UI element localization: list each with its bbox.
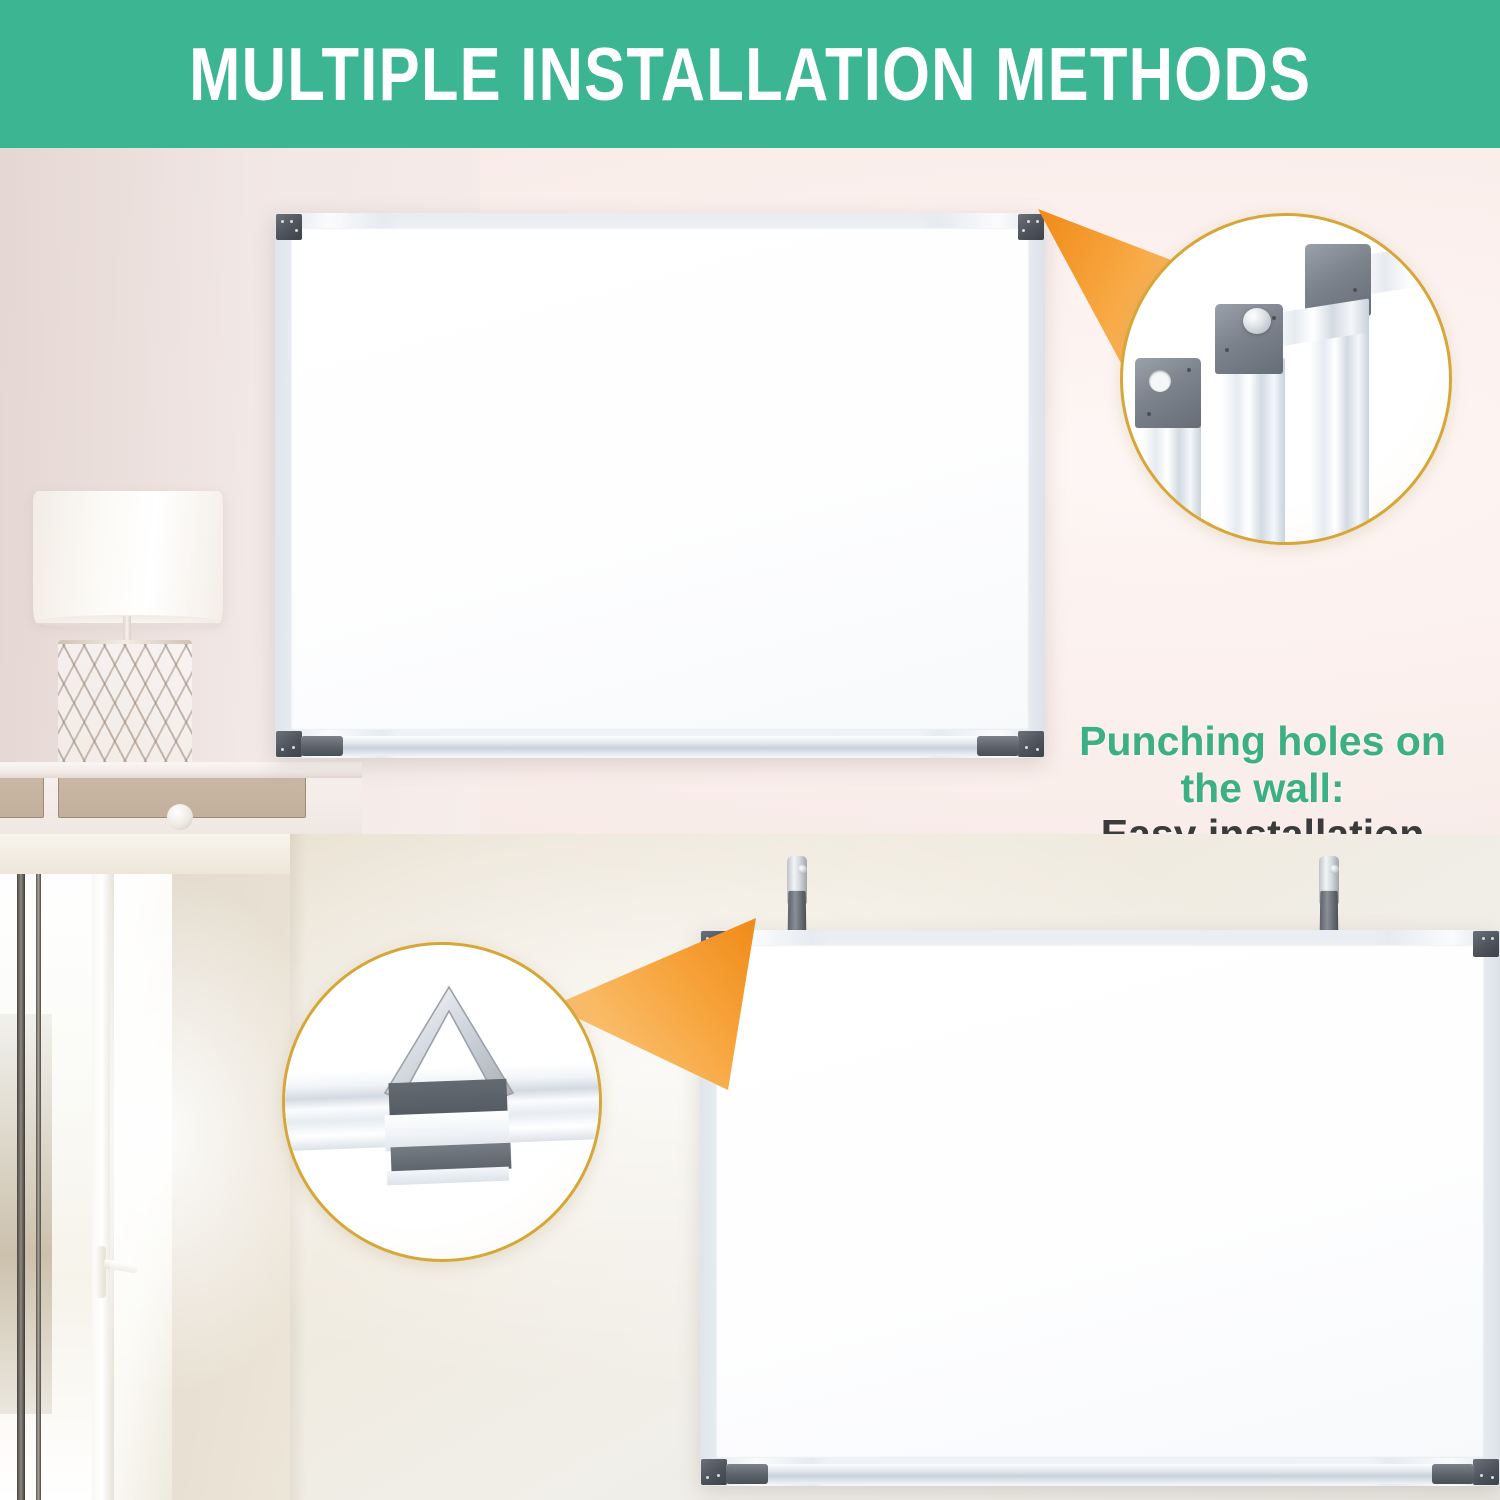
- door-header: [0, 834, 290, 874]
- frame-corner-cap: [276, 214, 302, 240]
- pen-tray-end-cap: [1432, 1464, 1474, 1484]
- hook-tongue: [1320, 891, 1339, 935]
- drawer-knob: [167, 804, 193, 830]
- pen-tray-end-cap: [726, 1464, 768, 1484]
- lamp-base-rim-top: [58, 640, 192, 644]
- whiteboard-writing-surface: [291, 228, 1029, 730]
- whiteboard-no-punching: [700, 930, 1500, 1486]
- whiteboard-pen-tray: [726, 1464, 1474, 1484]
- magnifier-hanging-bracket: [282, 942, 602, 1262]
- hook-tongue: [788, 891, 807, 935]
- lamp-shade-icon: [33, 491, 223, 623]
- hook-screw-icon: [1330, 865, 1339, 874]
- whiteboard-punching: [275, 213, 1045, 758]
- frame-corner-cap: [1473, 931, 1499, 957]
- dresser: [0, 762, 362, 834]
- pen-tray-end-cap: [301, 736, 343, 756]
- panel-punching-holes: Punching holes on the wall: Easy install…: [0, 148, 1500, 834]
- frame-corner-cap: [276, 731, 302, 757]
- banner-title: MULTIPLE INSTALLATION METHODS: [189, 37, 1311, 112]
- frame-corner-cap: [1473, 1459, 1499, 1485]
- frame-corner-cap: [701, 1459, 727, 1485]
- whiteboard-pen-tray: [301, 736, 1019, 756]
- pen-tray-end-cap: [977, 736, 1019, 756]
- door-handle-icon[interactable]: [96, 1246, 106, 1298]
- window-reveal: [114, 868, 172, 1500]
- product-infographic: MULTIPLE INSTALLATION METHODS: [0, 0, 1500, 1500]
- glass-door: [0, 834, 290, 1500]
- callout-punching-holes: Punching holes on the wall: Easy install…: [1045, 718, 1480, 834]
- whiteboard-writing-surface: [716, 945, 1484, 1458]
- header-banner: MULTIPLE INSTALLATION METHODS: [0, 0, 1500, 148]
- callout-subline-1: Easy installation: [1045, 811, 1480, 834]
- frame-corner-bracket-icon: [1131, 334, 1261, 545]
- door-frame: [92, 834, 114, 1500]
- hook-screw-icon: [798, 865, 807, 874]
- door-mullion: [17, 856, 25, 1500]
- magnifier-frame-corner: [1120, 213, 1452, 545]
- door-mullion: [36, 856, 41, 1500]
- panel-no-punching: No punching: Hang it up with a hook: [0, 834, 1500, 1500]
- callout-headline: Punching holes on the wall:: [1045, 718, 1480, 811]
- frame-corner-cap: [1018, 731, 1044, 757]
- mounting-hole-icon: [1149, 370, 1171, 392]
- door-glass-reflection: [0, 1014, 52, 1414]
- screw-icon: [1243, 308, 1271, 334]
- dresser-top: [0, 762, 362, 778]
